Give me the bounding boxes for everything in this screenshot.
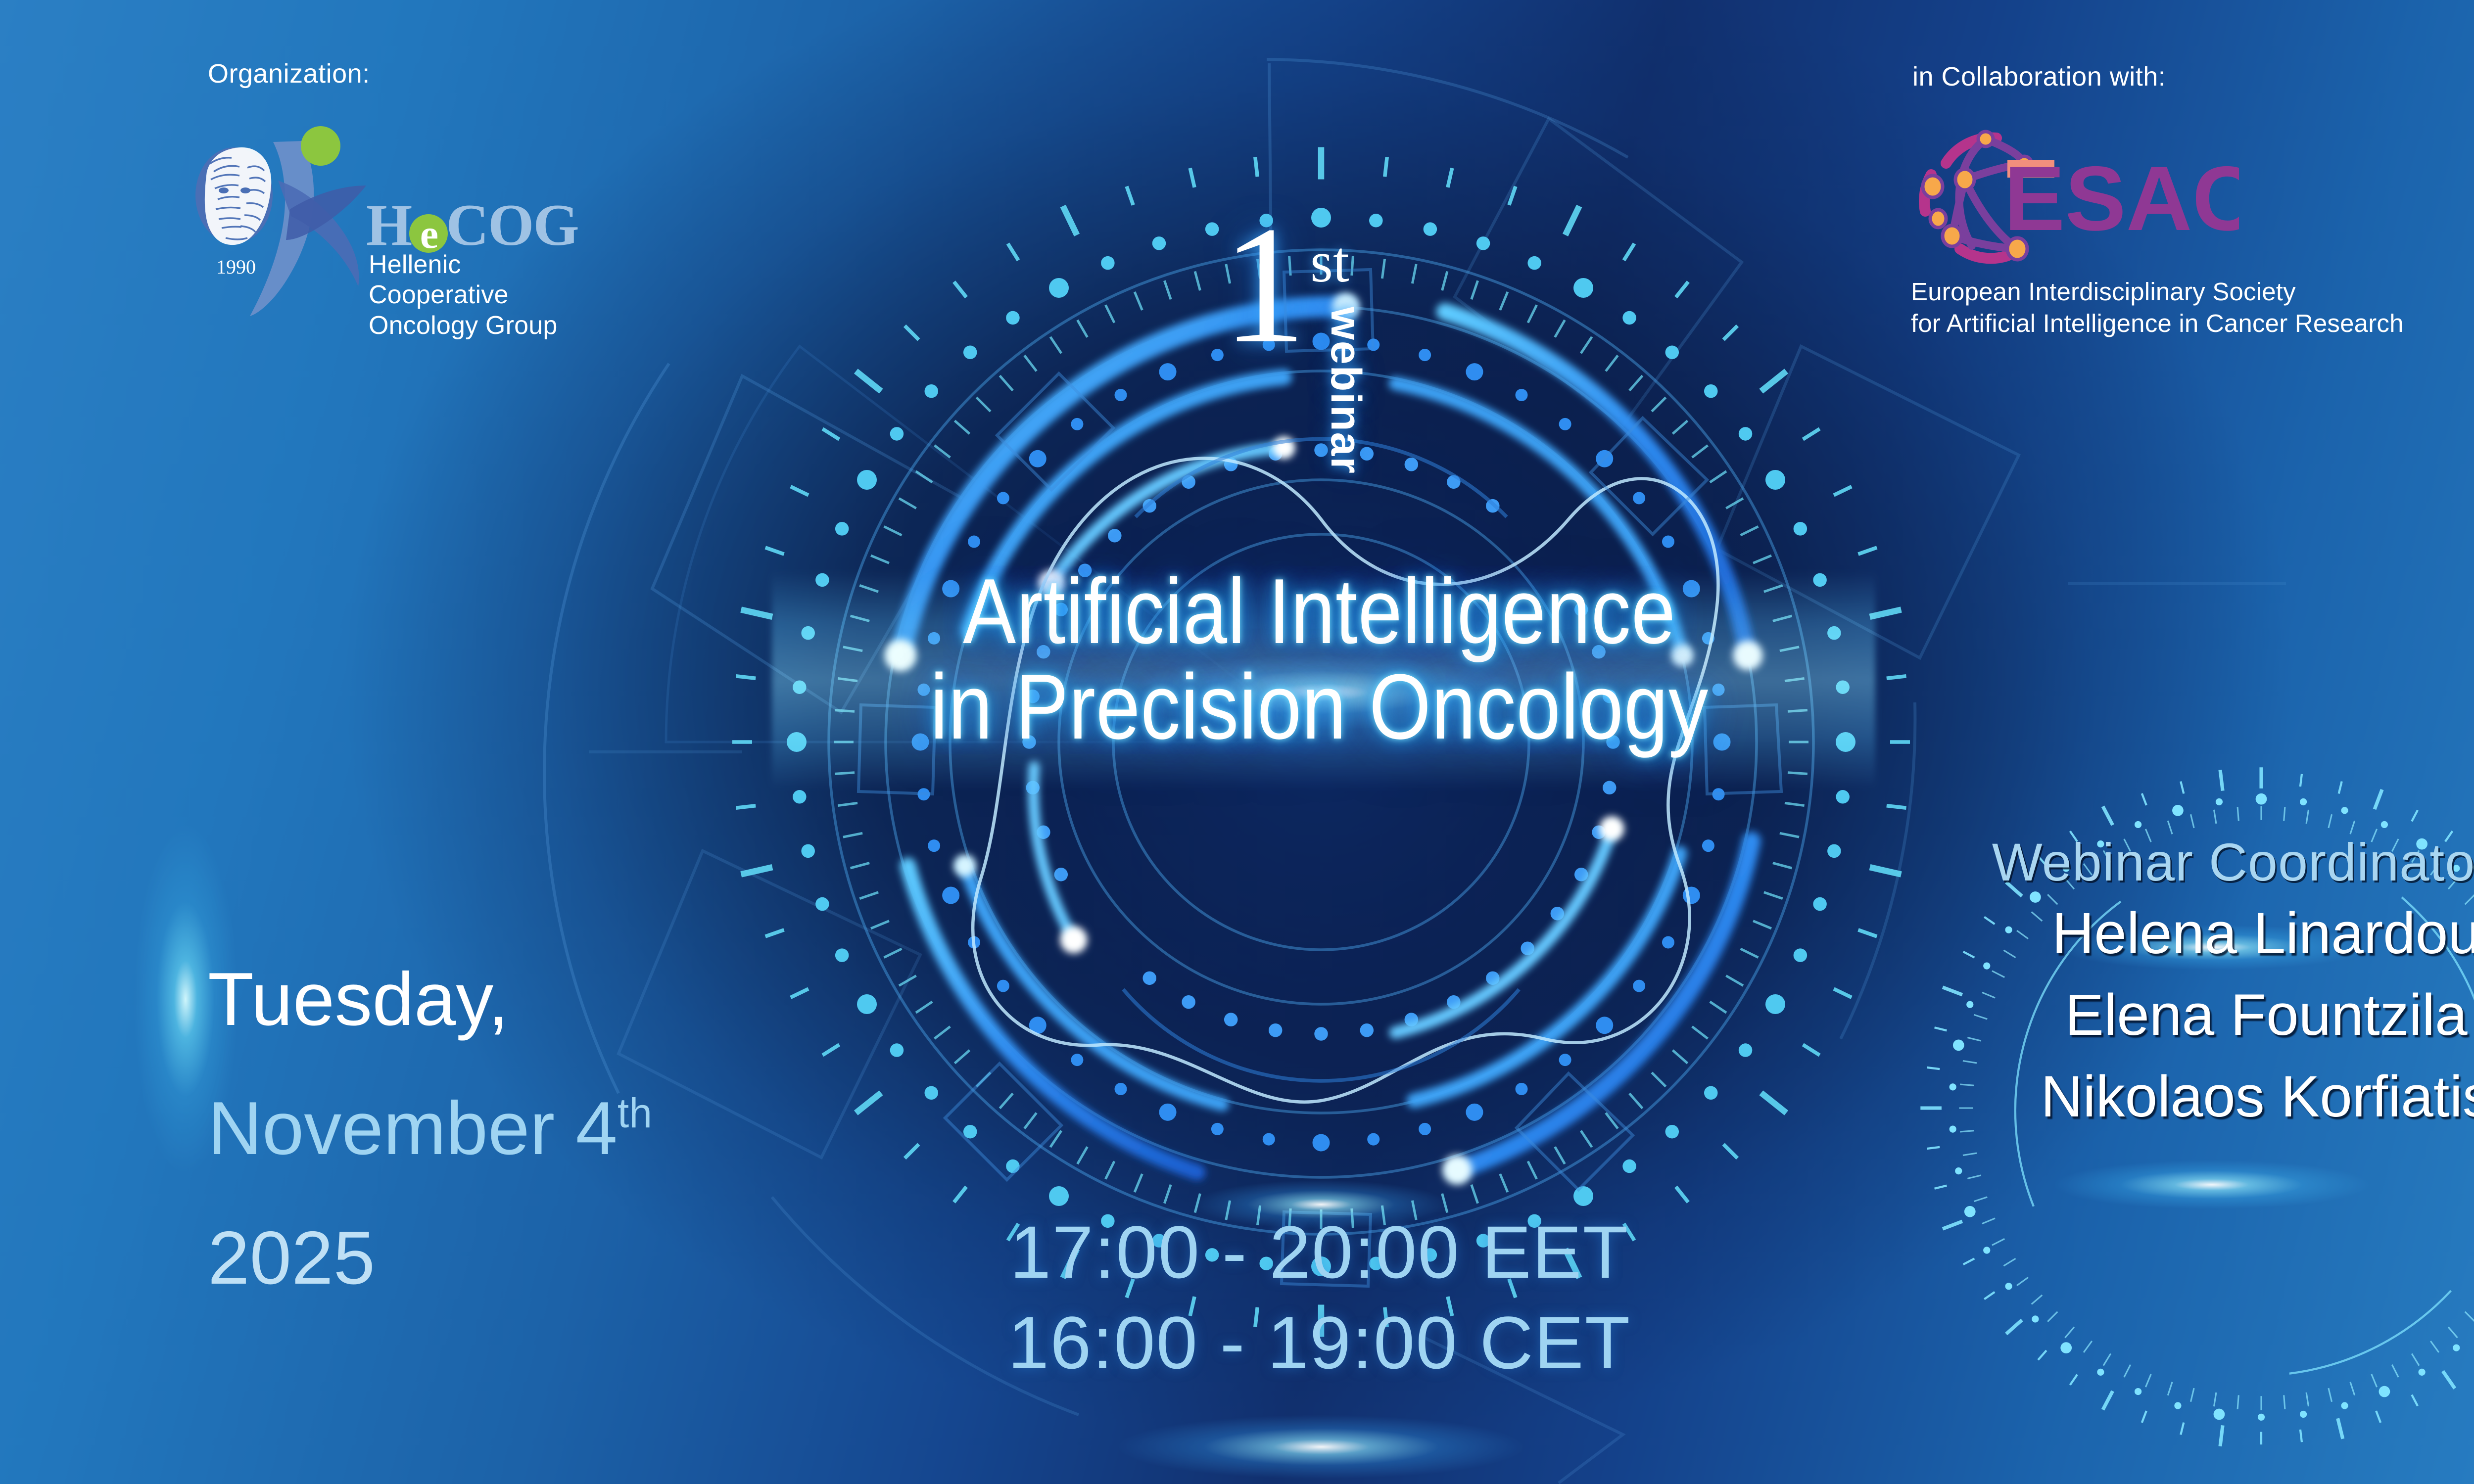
- hecog-subtitle: Hellenic Cooperative Oncology Group: [369, 250, 557, 341]
- hecog-wordmark: HeCOG: [366, 195, 578, 255]
- lens-flare-coordinators-bottom: [2004, 1153, 2420, 1217]
- hecog-green-dot: [301, 126, 340, 166]
- esac-logo: ESAC: [1903, 116, 2239, 265]
- date-month-day: November 4th: [208, 1064, 652, 1193]
- hecog-founded-year: 1990: [216, 256, 256, 278]
- lens-flare-title: [1059, 643, 1583, 742]
- date-ordinal-suffix: th: [618, 1090, 652, 1136]
- lens-flare-above-times: [1153, 1172, 1489, 1237]
- coordinator-name: Helena Linardou: [1945, 893, 2474, 974]
- hecog-wordmark-cog: COG: [446, 192, 578, 258]
- date-month-text: November 4: [208, 1086, 618, 1170]
- date-year: 2025: [208, 1194, 652, 1323]
- coordinator-name: Nikolaos Korfiatis: [1945, 1056, 2474, 1138]
- hecog-wordmark-e: e: [409, 214, 448, 253]
- coordinators-heading: Webinar Coordinators: [1925, 831, 2474, 893]
- coordinator-name: Elena Fountzila: [1945, 974, 2474, 1056]
- webinar-poster: Organization:: [0, 0, 2474, 1484]
- aristotle-bust-icon: [195, 147, 273, 245]
- webinar-coordinators: Webinar Coordinators Helena Linardou Ele…: [1945, 831, 2474, 1138]
- date-weekday: Tuesday,: [208, 935, 652, 1064]
- esac-wordmark: ESAC: [2004, 148, 2239, 250]
- organization-label: Organization:: [208, 58, 370, 89]
- collaboration-label: in Collaboration with:: [1912, 61, 2166, 92]
- event-date: Tuesday, November 4th 2025: [208, 935, 652, 1323]
- hecog-wordmark-h: H: [366, 192, 411, 258]
- esac-subtitle: European Interdisciplinary Society for A…: [1911, 276, 2404, 339]
- lens-flare-bottom: [1054, 1405, 1588, 1484]
